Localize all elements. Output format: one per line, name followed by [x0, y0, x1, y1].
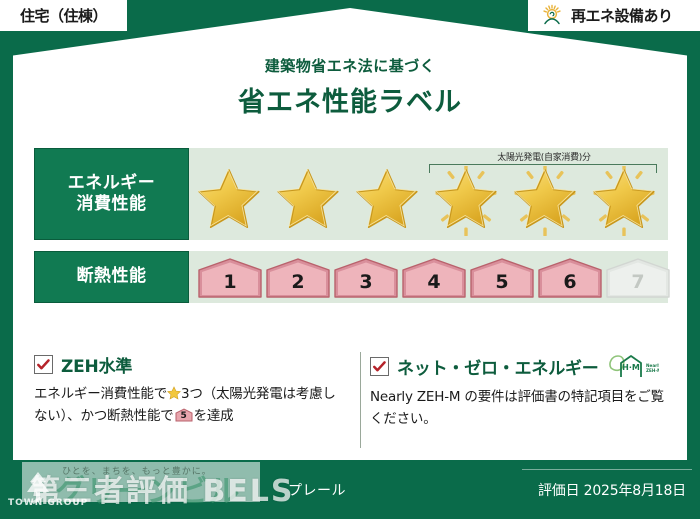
energy-performance-label: エネルギー 消費性能	[34, 148, 189, 240]
energy-label-line2: 消費性能	[77, 194, 147, 215]
grade-value: 5	[469, 258, 535, 298]
footer-divider	[522, 469, 692, 470]
zeh-standard-heading-row: ZEH水準	[34, 352, 344, 377]
inline-grade-value: 5	[175, 408, 193, 422]
net-zero-energy-block: ネット・ゼロ・エネルギー H·M Nearly ZEH-M Nearly ZEH…	[358, 352, 668, 431]
grade-value: 6	[537, 258, 603, 298]
building-type-tag: 住宅（住棟）	[0, 0, 127, 31]
grade-value: 7	[605, 258, 671, 298]
star-icon	[189, 162, 268, 240]
grade-badge: 2	[265, 258, 331, 298]
building-type-label: 住宅（住棟）	[20, 5, 107, 26]
grade-badge: 5	[469, 258, 535, 298]
grade-value: 3	[333, 258, 399, 298]
energy-label-line1: エネルギー	[68, 173, 156, 194]
energy-performance-row: エネルギー 消費性能 太陽光発電(自家消費)分	[34, 148, 668, 240]
check-icon	[370, 357, 389, 376]
grade-value: 2	[265, 258, 331, 298]
insulation-label-text: 断熱性能	[77, 266, 147, 287]
grade-badge: 7	[605, 258, 671, 298]
net-zero-heading-row: ネット・ゼロ・エネルギー H·M Nearly ZEH-M	[370, 352, 668, 380]
insulation-performance-label: 断熱性能	[34, 251, 189, 303]
grade-badge: 6	[537, 258, 603, 298]
performance-rows: エネルギー 消費性能 太陽光発電(自家消費)分	[34, 148, 668, 314]
svg-text:ZEH-M: ZEH-M	[646, 368, 659, 373]
renewable-energy-label: 再エネ設備あり	[571, 5, 673, 26]
grade-badge: 4	[401, 258, 467, 298]
footer-left-text: プレール	[288, 480, 346, 500]
footer-right-text: 評価日 2025年8月18日	[538, 480, 686, 500]
zeh-m-logo: H·M Nearly ZEH-M	[607, 352, 659, 380]
title-main: 省エネ性能ラベル	[0, 80, 700, 119]
grade-badge: 3	[333, 258, 399, 298]
insulation-performance-row: 断熱性能 1 2 3 4 5	[34, 251, 668, 303]
star-sparkle-icon	[584, 162, 663, 240]
zeh-body-part3: を達成	[194, 408, 234, 424]
title-subtitle: 建築物省エネ法に基づく	[0, 55, 700, 76]
energy-performance-body: 太陽光発電(自家消費)分	[189, 148, 668, 240]
zeh-body-part1: エネルギー消費性能で	[34, 386, 167, 402]
star-sparkle-icon	[426, 162, 505, 240]
renewable-energy-tag: 再エネ設備あり	[528, 0, 700, 31]
watermark-tagline: ひとを、まちを、もっと豊かに。	[62, 464, 212, 477]
star-sparkle-icon	[505, 162, 584, 240]
star-icon	[268, 162, 347, 240]
sun-icon	[540, 4, 564, 28]
energy-label-screenshot: 住宅（住棟） 再エネ設備あり 建築物省エネ法に基づく	[0, 0, 700, 519]
check-icon	[34, 355, 53, 374]
grade-scale: 1 2 3 4 5 6 7	[197, 256, 671, 298]
star-rating	[189, 162, 668, 240]
inline-grade-badge: 5	[175, 408, 193, 422]
zeh-standard-block: ZEH水準 エネルギー消費性能で 3つ（太陽光発電は考慮しない）、かつ断熱性能で…	[34, 352, 344, 431]
net-zero-heading: ネット・ゼロ・エネルギー	[397, 354, 599, 379]
grade-badge: 1	[197, 258, 263, 298]
info-section: ZEH水準 エネルギー消費性能で 3つ（太陽光発電は考慮しない）、かつ断熱性能で…	[34, 352, 668, 431]
zeh-standard-body: エネルギー消費性能で 3つ（太陽光発電は考慮しない）、かつ断熱性能で 5 を達成	[34, 384, 344, 428]
grade-value: 1	[197, 258, 263, 298]
star-icon	[347, 162, 426, 240]
watermark-town-group: TOWN GROUP	[8, 498, 88, 508]
zeh-standard-heading: ZEH水準	[61, 352, 132, 377]
inline-star-icon	[167, 386, 181, 400]
title-block: 建築物省エネ法に基づく 省エネ性能ラベル	[0, 55, 700, 119]
svg-text:H·M: H·M	[622, 363, 640, 372]
net-zero-body: Nearly ZEH-M の要件は評価書の特記項目をご覧ください。	[370, 387, 668, 431]
insulation-performance-body: 1 2 3 4 5 6 7	[189, 251, 668, 303]
grade-value: 4	[401, 258, 467, 298]
